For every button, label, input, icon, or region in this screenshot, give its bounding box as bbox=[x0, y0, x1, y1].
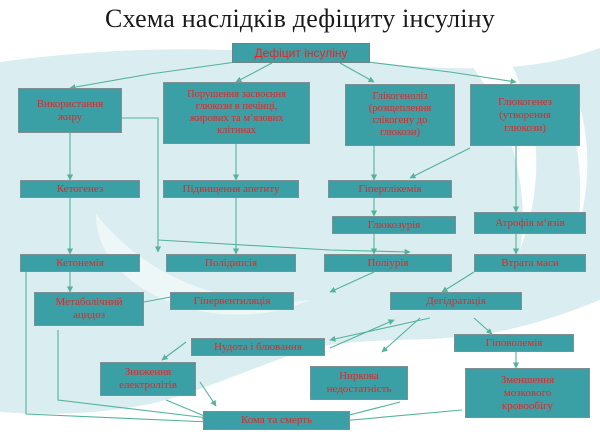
node-label-line2: жиру bbox=[37, 111, 103, 124]
diagram-canvas: Схема наслідків дефіциту інсуліну Дефіци… bbox=[0, 0, 600, 439]
node-fat-utilization[interactable]: Використання жиру bbox=[18, 88, 122, 133]
node-glycogenolysis[interactable]: Глікогеноліз (розщеплення глікогену до г… bbox=[345, 84, 455, 146]
node-label-line4: клітинах bbox=[187, 125, 286, 137]
node-label: Глюкозурія bbox=[368, 219, 421, 232]
node-coma-and-death[interactable]: Кома та смерть bbox=[203, 411, 350, 430]
node-label-line1: Глікогеноліз bbox=[369, 91, 431, 103]
node-label-line2: глюкози в печінці, bbox=[187, 101, 286, 113]
node-glucosuria[interactable]: Глюкозурія bbox=[332, 216, 456, 234]
node-nausea-vomiting[interactable]: Нудота і блювання bbox=[191, 338, 325, 356]
node-reduced-cerebral-circulation[interactable]: Зменшення мозкового кровообігу bbox=[465, 368, 590, 418]
node-polydipsia[interactable]: Полідипсія bbox=[166, 254, 296, 272]
node-increased-appetite[interactable]: Підвищення апетиту bbox=[163, 180, 299, 198]
node-insulin-deficiency[interactable]: Дефіцит інсуліну bbox=[232, 43, 370, 63]
node-label: Гіпервентиляція bbox=[194, 295, 271, 308]
node-label-line1: Зниження bbox=[119, 366, 177, 379]
node-label-line3: глікогену до bbox=[369, 115, 431, 127]
node-label: Кетонемія bbox=[56, 257, 104, 270]
node-hyperglycemia[interactable]: Гіперглікемія bbox=[328, 180, 452, 198]
node-label-line1: Метаболічний bbox=[55, 296, 122, 309]
node-label-line3: глюкози) bbox=[498, 122, 552, 135]
node-label-line2: ацидоз bbox=[55, 309, 122, 322]
node-metabolic-acidosis[interactable]: Метаболічний ацидоз bbox=[34, 292, 144, 326]
node-ketogenesis[interactable]: Кетогенез bbox=[20, 180, 140, 198]
node-label: Полідипсія bbox=[205, 257, 257, 270]
node-label-line2: недостатність bbox=[327, 383, 392, 396]
node-hyperventilation[interactable]: Гіпервентиляція bbox=[170, 292, 294, 310]
node-label: Гіперглікемія bbox=[358, 183, 421, 196]
node-label-line1: Ниркова bbox=[327, 370, 392, 383]
node-label-line2: (розщеплення bbox=[369, 103, 431, 115]
node-label: Кома та смерть bbox=[241, 414, 312, 427]
node-label: Гіповолемія bbox=[486, 337, 543, 350]
node-hypovolemia[interactable]: Гіповолемія bbox=[454, 334, 574, 352]
node-label-line3: кровообігу bbox=[501, 400, 554, 413]
node-label: Втрата маси bbox=[501, 257, 559, 270]
node-weight-loss[interactable]: Втрата маси bbox=[474, 254, 586, 272]
node-electrolyte-decrease[interactable]: Зниження електролітів bbox=[100, 362, 196, 396]
node-label: Поліурія bbox=[368, 257, 409, 270]
node-label: Дефіцит інсуліну bbox=[254, 47, 347, 60]
node-muscle-atrophy[interactable]: Атрофія м‘язів bbox=[474, 212, 586, 234]
node-label-line2: (утворення bbox=[498, 109, 552, 122]
node-label-line1: Зменшення bbox=[501, 374, 554, 387]
node-label-line1: Використання bbox=[37, 98, 103, 111]
node-gluconeogenesis[interactable]: Глюкогенез (утворення глюкози) bbox=[470, 84, 580, 146]
node-label-line1: Порушення засвоєння bbox=[187, 89, 286, 101]
node-label: Атрофія м‘язів bbox=[495, 217, 565, 230]
node-ketonemia[interactable]: Кетонемія bbox=[20, 254, 140, 272]
node-label: Дегідратація bbox=[426, 295, 486, 308]
node-glucose-uptake-impairment[interactable]: Порушення засвоєння глюкози в печінці, ж… bbox=[163, 82, 310, 144]
node-label-line2: мозкового bbox=[501, 387, 554, 400]
node-polyuria[interactable]: Поліурія bbox=[324, 254, 452, 272]
node-label: Підвищення апетиту bbox=[183, 183, 280, 196]
node-label-line1: Глюкогенез bbox=[498, 96, 552, 109]
node-label: Кетогенез bbox=[57, 183, 103, 196]
node-label-line3: жирових та м’язових bbox=[187, 113, 286, 125]
node-dehydration[interactable]: Дегідратація bbox=[390, 292, 522, 310]
node-label-line2: електролітів bbox=[119, 379, 177, 392]
node-label-line4: глюкози) bbox=[369, 127, 431, 139]
node-label: Нудота і блювання bbox=[214, 341, 302, 354]
node-renal-failure[interactable]: Ниркова недостатність bbox=[310, 366, 408, 400]
page-title: Схема наслідків дефіциту інсуліну bbox=[0, 4, 600, 34]
